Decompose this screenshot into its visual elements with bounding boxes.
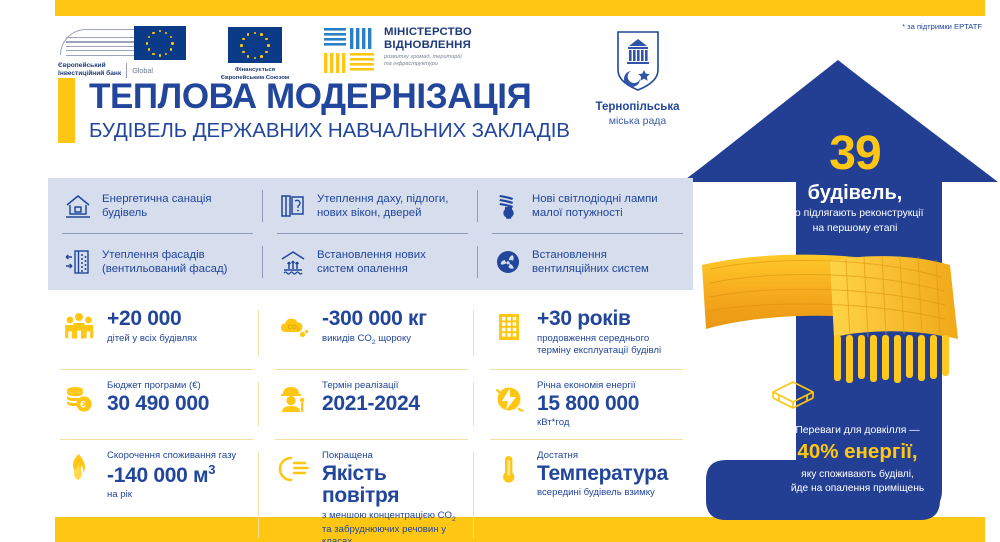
stat-caption: продовження середнього терміну експлуата… (537, 333, 661, 357)
feature-item: Енергетична санація будівель (48, 178, 263, 234)
bottom-headline: 40% енергії, (745, 440, 970, 465)
stat-caption-line1: продовження середнього (537, 333, 649, 344)
stat-value: -140 000 м3 (107, 463, 236, 488)
ministry-line1: МІНІСТЕРСТВО (384, 26, 472, 39)
ministry-sub2: та інфраструктури (384, 61, 438, 67)
stat-caption-line2: та забруднюючих речовин у класах (322, 524, 446, 542)
feature-line2: (вентильований фасад) (102, 263, 227, 275)
coins-euro-icon: € (62, 382, 96, 416)
stat-label: Річна економія енергії (537, 380, 639, 392)
stat-caption: з меншою концентрацією CO2 та забруднююч… (322, 510, 468, 542)
page-title: ТЕПЛОВА МОДЕРНІЗАЦІЯ (89, 78, 570, 116)
stat-value: Температура (537, 463, 668, 486)
svg-text:CO: CO (288, 324, 297, 331)
top-yellow-bar (55, 0, 985, 16)
feature-line1: Встановлення (532, 249, 607, 261)
eu-caption-line1: Фінансується (235, 67, 275, 73)
thermometer-icon (492, 452, 526, 486)
feature-item: Встановлення вентиляційних систем (478, 234, 693, 290)
stats-row: € Бюджет програми (€) 30 490 000 (48, 372, 693, 442)
feature-item: Утеплення даху, підлоги, нових вікон, дв… (263, 178, 478, 234)
eib-logo: Європейський Інвестиційний банк Global (58, 26, 186, 78)
stat-value: 30 490 000 (107, 393, 209, 416)
stat-value: -300 000 кг (322, 308, 427, 331)
feature-item: Нові світлодіодні лампи малої потужності (478, 178, 693, 234)
energy-save-icon (492, 382, 526, 416)
stat-value: 15 800 000 (537, 393, 639, 416)
stat-value: 2021-2024 (322, 393, 420, 416)
bottom-desc-line1: яку споживають будівлі, (801, 469, 914, 480)
eib-name-line1: Європейський (58, 62, 106, 69)
stat-item: Скорочення споживання газу -140 000 м3 н… (48, 442, 263, 542)
feature-label: Встановлення нових систем опалення (317, 248, 426, 276)
feature-line2: систем опалення (317, 263, 408, 275)
eu-flag-icon (134, 26, 186, 60)
title-block: ТЕПЛОВА МОДЕРНІЗАЦІЯ БУДІВЕЛЬ ДЕРЖАВНИХ … (58, 78, 570, 143)
stat-value: +20 000 (107, 308, 197, 331)
window-door-icon (279, 192, 307, 220)
svg-text:€: € (80, 400, 86, 411)
stat-item: Покращена Якість повітря з меншою концен… (263, 442, 478, 542)
ternopil-name: Тернопільська (580, 101, 695, 115)
stat-unit: кВт*год (537, 417, 639, 429)
stat-label: Покращена (322, 450, 468, 462)
bottom-kicker: Переваги для довкілля — (745, 424, 970, 438)
feature-line2: будівель (102, 207, 147, 219)
heating-system-icon (279, 248, 307, 276)
stat-caption-line2: терміну експлуатації будівлі (537, 345, 661, 356)
building-grid-icon (492, 310, 526, 344)
stat-caption: всередині будівель взимку (537, 487, 668, 499)
bottom-desc-line2: йде на опалення приміщень (791, 483, 924, 494)
people-icon (62, 310, 96, 344)
feature-line1: Енергетична санація (102, 193, 212, 205)
eib-mark-icon (58, 26, 186, 60)
bottom-description: яку споживають будівлі, йде на опалення … (740, 468, 975, 497)
stat-unit: на рік (107, 489, 236, 501)
stat-item: +20 000 дітей у всіх будівлях (48, 300, 263, 372)
stat-label: Скорочення споживання газу (107, 450, 236, 462)
eu-funding-logo: Фінансується Європейським Союзом (212, 26, 298, 82)
eib-name-line2: Інвестиційний банк (58, 70, 121, 77)
stats-row: Скорочення споживання газу -140 000 м3 н… (48, 442, 693, 520)
feature-line2: нових вікон, дверей (317, 207, 422, 219)
eib-global-label: Global (132, 66, 153, 75)
feature-label: Утеплення даху, підлоги, нових вікон, дв… (317, 192, 448, 220)
stat-label: Достатня (537, 450, 668, 462)
facade-insulation-icon (64, 248, 92, 276)
feature-item: Утеплення фасадів (вентильований фасад) (48, 234, 263, 290)
house-desc-line1: що підлягають реконструкції (787, 208, 924, 219)
led-lamp-icon (494, 192, 522, 220)
stat-item: Річна економія енергії 15 800 000 кВт*го… (478, 372, 693, 442)
feature-item: Встановлення нових систем опалення (263, 234, 478, 290)
stat-item: +30 років продовження середнього терміну… (478, 300, 693, 372)
stat-value: +30 років (537, 308, 661, 331)
stat-item: CO 2 -300 000 кг викидів CO2 щороку (263, 300, 478, 372)
infographic-page: 39 будівель, що підлягають реконструкції… (0, 0, 1000, 542)
feature-line2: малої потужності (532, 207, 623, 219)
feature-label: Нові світлодіодні лампи малої потужності (532, 192, 658, 220)
ternopil-sub: міська рада (580, 115, 695, 128)
stat-caption: викидів CO2 щороку (322, 333, 427, 347)
features-panel: Енергетична санація будівель Утеплення д… (48, 178, 693, 290)
stat-value: Якість повітря (322, 463, 468, 508)
eib-divider (126, 63, 127, 78)
feature-line2: вентиляційних систем (532, 263, 649, 275)
stat-item: Достатня Температура всередині будівель … (478, 442, 693, 542)
knitted-scarf-graphic (700, 243, 1000, 383)
co2-cloud-icon: CO 2 (277, 310, 311, 344)
feature-label: Утеплення фасадів (вентильований фасад) (102, 248, 227, 276)
feature-label: Встановлення вентиляційних систем (532, 248, 649, 276)
ternopil-city-council: Тернопільська міська рада (580, 30, 695, 127)
feature-line1: Нові світлодіодні лампи (532, 193, 658, 205)
stat-label: Термін реалізації (322, 380, 420, 392)
title-accent-bar (58, 78, 75, 143)
ternopil-coat-of-arms-icon (614, 30, 662, 92)
house-energy-icon (64, 192, 92, 220)
roof-layers-icon (770, 378, 816, 418)
house-building-count: 39 (760, 130, 950, 178)
eu-flag-icon-2 (228, 27, 282, 63)
feature-label: Енергетична санація будівель (102, 192, 212, 220)
house-desc-line2: на першому етапі (813, 223, 898, 234)
ministry-line2: ВІДНОВЛЕННЯ (384, 39, 472, 52)
feature-line1: Встановлення нових (317, 249, 426, 261)
ventilation-icon (494, 248, 522, 276)
gas-flame-icon (62, 452, 96, 486)
house-description: що підлягають реконструкції на першому е… (745, 206, 965, 236)
stat-item: Термін реалізації 2021-2024 (263, 372, 478, 442)
ministry-logo: МІНІСТЕРСТВО ВІДНОВЛЕННЯ розвитку громад… (324, 26, 472, 74)
stat-item: € Бюджет програми (€) 30 490 000 (48, 372, 263, 442)
page-subtitle: БУДІВЕЛЬ ДЕРЖАВНИХ НАВЧАЛЬНИХ ЗАКЛАДІВ (89, 119, 570, 144)
ministry-sub1: розвитку громад, територій (384, 54, 462, 60)
stats-row: +20 000 дітей у всіх будівлях CO 2 (48, 300, 693, 372)
worker-icon (277, 382, 311, 416)
feature-line1: Утеплення фасадів (102, 249, 205, 261)
air-quality-icon (277, 452, 311, 486)
ministry-mark-icon (324, 26, 376, 74)
stat-label: Бюджет програми (€) (107, 380, 209, 392)
stats-section: +20 000 дітей у всіх будівлях CO 2 (48, 300, 693, 520)
feature-line1: Утеплення даху, підлоги, (317, 193, 448, 205)
house-building-word: будівель, (760, 182, 950, 204)
support-note: * за підтримки EPTATF (902, 22, 982, 31)
stat-caption: дітей у всіх будівлях (107, 333, 197, 345)
